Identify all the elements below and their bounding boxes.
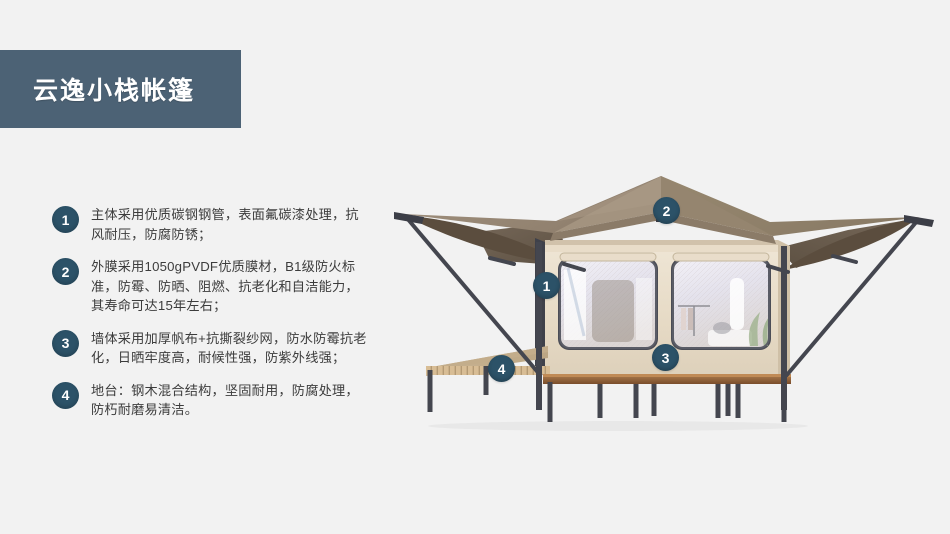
- feature-badge-1: 1: [52, 206, 79, 233]
- list-item: 3 墙体采用加厚帆布+抗撕裂纱网，防水防霉抗老化，日晒牢度高，耐候性强，防紫外线…: [52, 329, 372, 368]
- feature-text-3: 墙体采用加厚帆布+抗撕裂纱网，防水防霉抗老化，日晒牢度高，耐候性强，防紫外线强；: [91, 329, 372, 368]
- feature-badge-4: 4: [52, 382, 79, 409]
- feature-text-2: 外膜采用1050gPVDF优质膜材，B1级防火标准，防霉、防晒、阻燃、抗老化和自…: [91, 257, 372, 316]
- feature-badge-2: 2: [52, 258, 79, 285]
- title-banner: 云逸小栈帐篷: [0, 50, 241, 128]
- list-item: 4 地台：钢木混合结构，坚固耐用，防腐处理，防朽耐磨易清洁。: [52, 381, 372, 420]
- list-item: 2 外膜采用1050gPVDF优质膜材，B1级防火标准，防霉、防晒、阻燃、抗老化…: [52, 257, 372, 316]
- page-title: 云逸小栈帐篷: [0, 71, 195, 107]
- feature-text-4: 地台：钢木混合结构，坚固耐用，防腐处理，防朽耐磨易清洁。: [91, 381, 372, 420]
- hotspot-badge-1[interactable]: 1: [533, 272, 560, 299]
- hotspot-badge-4[interactable]: 4: [488, 355, 515, 382]
- window-right: [671, 258, 771, 350]
- feature-badge-3: 3: [52, 330, 79, 357]
- feature-list: 1 主体采用优质碳钢钢管，表面氟碳漆处理，抗风耐压，防腐防锈； 2 外膜采用10…: [52, 205, 372, 433]
- hotspot-badge-2[interactable]: 2: [653, 197, 680, 224]
- hotspot-badge-3[interactable]: 3: [652, 344, 679, 371]
- feature-text-1: 主体采用优质碳钢钢管，表面氟碳漆处理，抗风耐压，防腐防锈；: [91, 205, 372, 244]
- window-left: [558, 258, 658, 350]
- list-item: 1 主体采用优质碳钢钢管，表面氟碳漆处理，抗风耐压，防腐防锈；: [52, 205, 372, 244]
- tent-illustration: 1 2 3 4: [378, 160, 950, 450]
- page-root: 云逸小栈帐篷 1 主体采用优质碳钢钢管，表面氟碳漆处理，抗风耐压，防腐防锈； 2…: [0, 0, 950, 534]
